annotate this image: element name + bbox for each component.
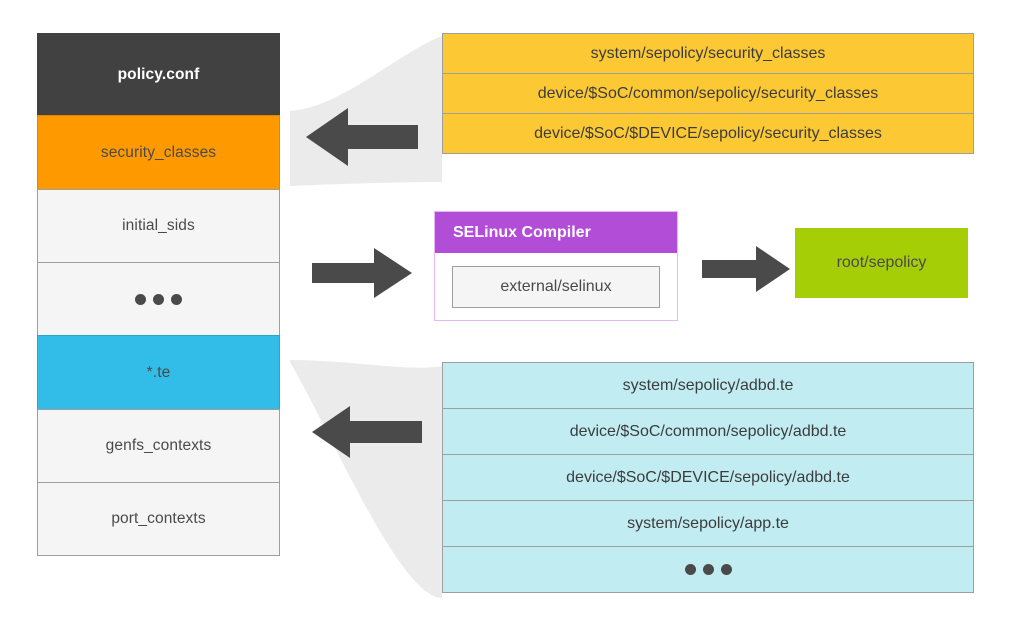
- arrow-left-icon-security-classes: [306, 104, 418, 170]
- policy-conf-header: policy.conf: [37, 33, 280, 116]
- policy-cell-genfs-contexts-label: genfs_contexts: [106, 437, 212, 455]
- policy-conf-column: policy.conf security_classes initial_sid…: [37, 33, 280, 556]
- root-sepolicy-label: root/sepolicy: [837, 254, 927, 272]
- table-row[interactable]: device/$SoC/$DEVICE/sepolicy/security_cl…: [442, 113, 974, 154]
- policy-cell-security-classes[interactable]: security_classes: [37, 115, 280, 190]
- table-cell-label: system/sepolicy/app.te: [627, 515, 789, 533]
- table-row[interactable]: device/$SoC/common/sepolicy/security_cla…: [442, 73, 974, 114]
- table-cell-label: system/sepolicy/security_classes: [591, 45, 826, 63]
- root-sepolicy-output-box: root/sepolicy: [795, 228, 968, 298]
- policy-cell-genfs-contexts[interactable]: genfs_contexts: [37, 409, 280, 483]
- policy-cell-port-contexts-label: port_contexts: [111, 510, 205, 528]
- arrow-left-icon-te-files: [312, 403, 422, 461]
- security-classes-source-table: system/sepolicy/security_classes device/…: [442, 33, 974, 154]
- table-row[interactable]: system/sepolicy/app.te: [442, 500, 974, 547]
- external-selinux-label: external/selinux: [500, 278, 611, 296]
- selinux-compiler-body: external/selinux: [435, 253, 677, 320]
- funnel-te-files: [290, 360, 442, 598]
- arrow-right-icon-compiler-output: [702, 243, 790, 295]
- selinux-compiler-title-label: SELinux Compiler: [453, 224, 591, 242]
- ellipsis-icon: [685, 564, 732, 575]
- policy-cell-te-files-label: *.te: [147, 364, 171, 382]
- policy-cell-security-classes-label: security_classes: [101, 144, 216, 162]
- selinux-compiler-card: SELinux Compiler external/selinux: [434, 211, 678, 321]
- ellipsis-icon: [135, 294, 182, 305]
- policy-cell-port-contexts[interactable]: port_contexts: [37, 482, 280, 556]
- table-row-ellipsis: [442, 546, 974, 593]
- table-row[interactable]: system/sepolicy/security_classes: [442, 33, 974, 74]
- table-cell-label: device/$SoC/$DEVICE/sepolicy/adbd.te: [566, 469, 850, 487]
- policy-cell-te-files[interactable]: *.te: [37, 335, 280, 410]
- policy-conf-header-label: policy.conf: [118, 66, 200, 84]
- table-cell-label: device/$SoC/common/sepolicy/security_cla…: [538, 85, 879, 103]
- table-cell-label: device/$SoC/$DEVICE/sepolicy/security_cl…: [534, 125, 882, 143]
- table-row[interactable]: device/$SoC/$DEVICE/sepolicy/adbd.te: [442, 454, 974, 501]
- policy-cell-initial-sids-label: initial_sids: [122, 217, 195, 235]
- selinux-policy-build-diagram: policy.conf security_classes initial_sid…: [0, 0, 1013, 618]
- table-cell-label: device/$SoC/common/sepolicy/adbd.te: [570, 423, 847, 441]
- selinux-compiler-title: SELinux Compiler: [435, 212, 677, 253]
- external-selinux-chip[interactable]: external/selinux: [452, 266, 660, 308]
- table-row[interactable]: system/sepolicy/adbd.te: [442, 362, 974, 409]
- policy-cell-initial-sids[interactable]: initial_sids: [37, 189, 280, 263]
- policy-cell-ellipsis: [37, 262, 280, 336]
- table-cell-label: system/sepolicy/adbd.te: [623, 377, 794, 395]
- arrow-right-icon-compiler-input: [312, 245, 412, 301]
- te-files-source-table: system/sepolicy/adbd.te device/$SoC/comm…: [442, 362, 974, 593]
- table-row[interactable]: device/$SoC/common/sepolicy/adbd.te: [442, 408, 974, 455]
